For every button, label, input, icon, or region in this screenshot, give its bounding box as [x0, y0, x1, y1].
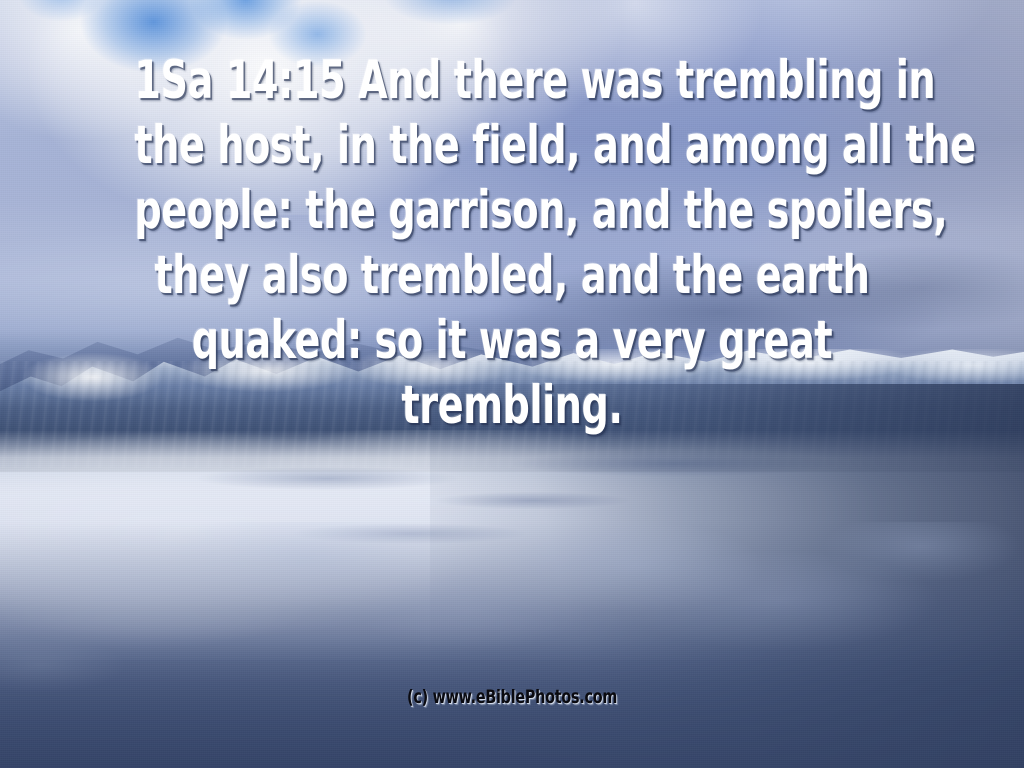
verse-line: trembling. [134, 373, 889, 438]
verse-line: people: the garrison, and the spoilers, [134, 178, 889, 243]
verse-line: they also trembled, and the earth [134, 243, 889, 308]
verse-text-block: 1Sa 14:15 And there was trembling in the… [0, 48, 1024, 438]
copyright-credit-text: (c) www.eBiblePhotos.com [407, 686, 617, 708]
verse-line: quaked: so it was a very great [134, 308, 889, 373]
copyright-credit: (c) www.eBiblePhotos.com [0, 686, 1024, 708]
verse-line: 1Sa 14:15 And there was trembling in [134, 48, 889, 113]
verse-image-canvas: 1Sa 14:15 And there was trembling in the… [0, 0, 1024, 768]
verse-line: the host, in the field, and among all th… [134, 113, 889, 178]
